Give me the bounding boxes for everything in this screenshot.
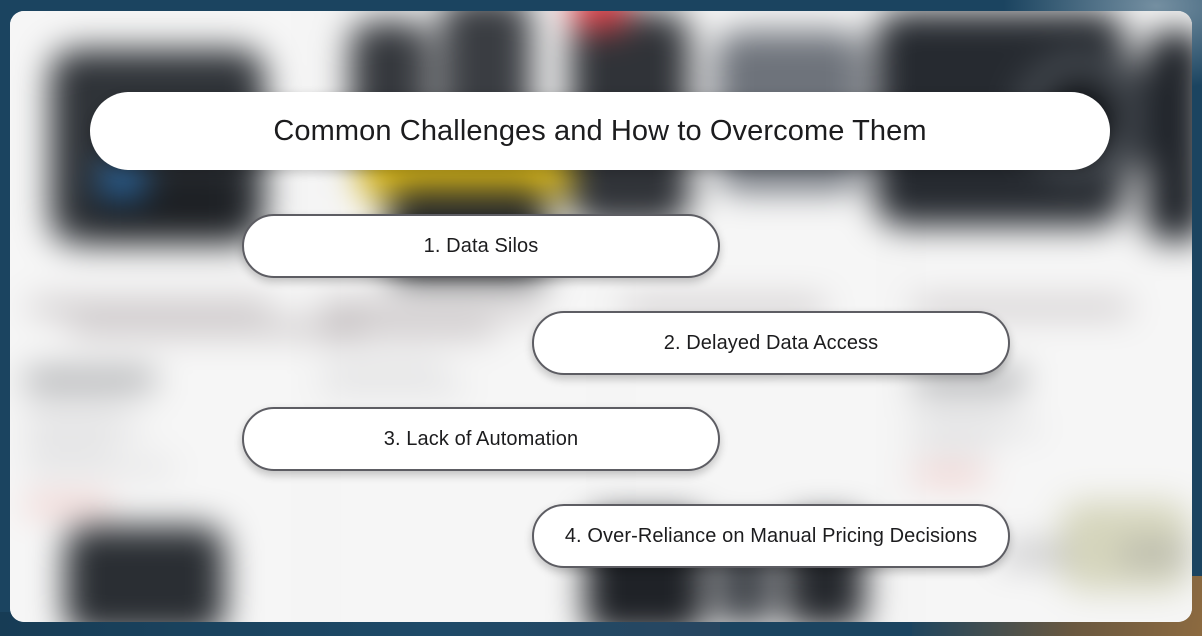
challenge-item-1-label: 1. Data Silos xyxy=(424,235,539,258)
challenge-item-3-label: 3. Lack of Automation xyxy=(384,428,578,451)
challenge-item-2[interactable]: 2. Delayed Data Access xyxy=(532,311,1010,375)
challenge-item-4[interactable]: 4. Over-Reliance on Manual Pricing Decis… xyxy=(532,504,1010,568)
slide-content: Common Challenges and How to Overcome Th… xyxy=(10,11,1192,622)
slide-title-card: Common Challenges and How to Overcome Th… xyxy=(90,92,1110,170)
page-title: Common Challenges and How to Overcome Th… xyxy=(273,115,926,148)
slide-frame: Common Challenges and How to Overcome Th… xyxy=(0,0,1202,636)
challenge-item-2-label: 2. Delayed Data Access xyxy=(664,332,879,355)
slide-panel: Common Challenges and How to Overcome Th… xyxy=(10,11,1192,622)
challenge-item-1[interactable]: 1. Data Silos xyxy=(242,214,720,278)
challenge-item-3[interactable]: 3. Lack of Automation xyxy=(242,407,720,471)
challenge-item-4-label: 4. Over-Reliance on Manual Pricing Decis… xyxy=(565,525,977,548)
